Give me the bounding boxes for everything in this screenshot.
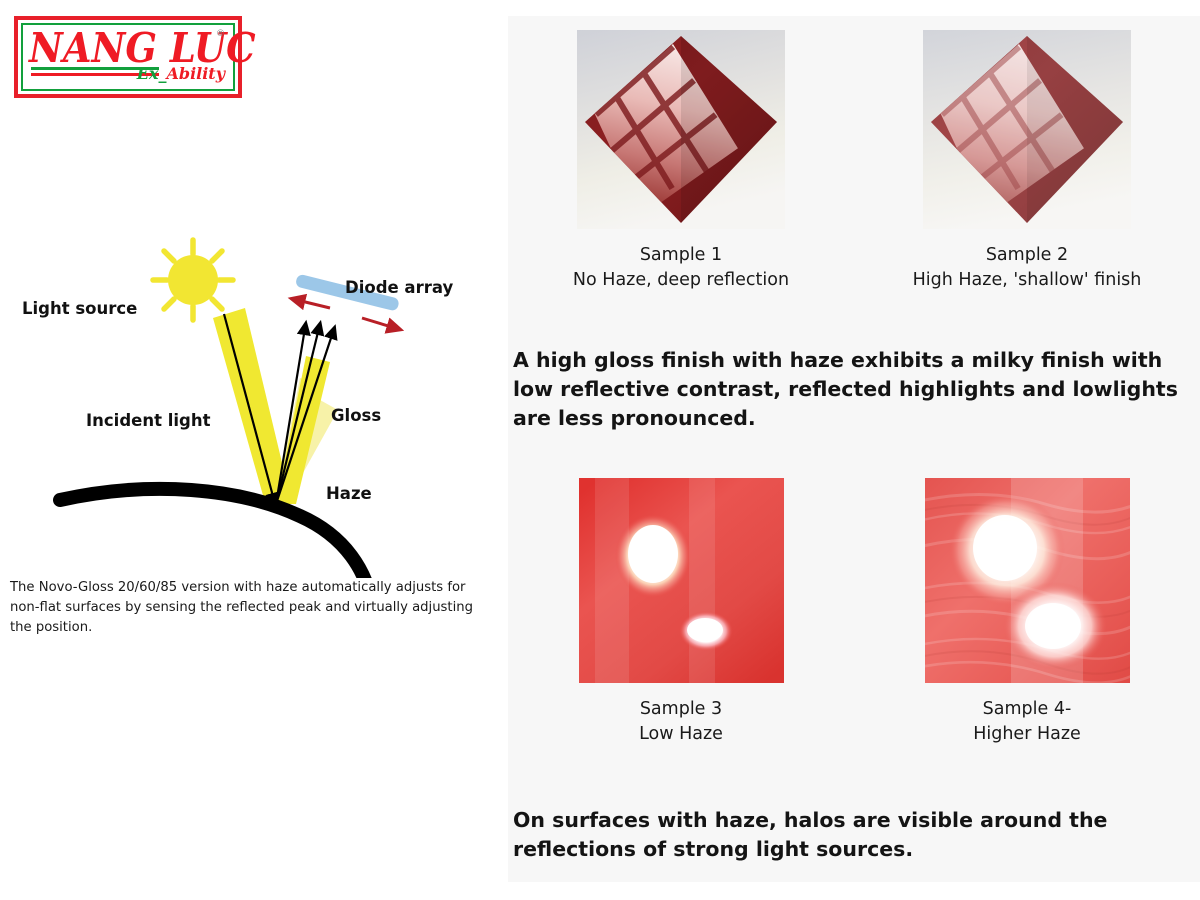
sample-2-subtitle: High Haze, 'shallow' finish: [913, 268, 1142, 293]
sample-2-caption: Sample 2 High Haze, 'shallow' finish: [913, 243, 1142, 293]
sample-3-image: [579, 478, 784, 683]
haze-samples-panel: Sample 1 No Haze, deep reflection: [508, 16, 1200, 882]
sample-row-top: Sample 1 No Haze, deep reflection: [508, 30, 1200, 293]
paragraph-haze-finish: A high gloss finish with haze exhibits a…: [513, 346, 1193, 433]
tagline-ability: Ability: [166, 64, 225, 83]
incident-light-beam: [213, 308, 290, 506]
sample-card-2: Sample 2 High Haze, 'shallow' finish: [854, 30, 1200, 293]
sample-card-1: Sample 1 No Haze, deep reflection: [508, 30, 854, 293]
diagram-caption: The Novo-Gloss 20/60/85 version with haz…: [10, 578, 498, 638]
label-diode-array: Diode array: [345, 278, 453, 297]
label-haze: Haze: [326, 484, 372, 503]
brand-logo: NANG LUC ® Ex_Ability: [14, 16, 242, 98]
label-incident-light: Incident light: [86, 411, 211, 430]
sample-4-caption: Sample 4- Higher Haze: [973, 697, 1081, 747]
sample-2-image: [923, 30, 1131, 229]
sample-3-title: Sample 3: [639, 697, 723, 722]
sample-card-4: Sample 4- Higher Haze: [854, 478, 1200, 747]
left-column: NANG LUC ® Ex_Ability: [0, 0, 505, 900]
paragraph-halos: On surfaces with haze, halos are visible…: [513, 806, 1193, 864]
sample-4-title: Sample 4-: [973, 697, 1081, 722]
label-light-source: Light source: [22, 299, 137, 318]
brand-tagline: Ex_Ability: [137, 64, 225, 83]
sun-icon: [153, 240, 233, 320]
sample-row-bottom: Sample 3 Low Haze: [508, 478, 1200, 747]
tagline-ex: Ex: [137, 64, 159, 83]
sample-1-caption: Sample 1 No Haze, deep reflection: [573, 243, 789, 293]
brand-logo-frame: NANG LUC ® Ex_Ability: [21, 23, 235, 91]
sample-card-3: Sample 3 Low Haze: [508, 478, 854, 747]
sample-1-title: Sample 1: [573, 243, 789, 268]
registered-trademark-icon: ®: [216, 29, 225, 39]
sample-3-subtitle: Low Haze: [639, 722, 723, 747]
sample-2-title: Sample 2: [913, 243, 1142, 268]
label-gloss: Gloss: [331, 406, 381, 425]
haze-gloss-diagram: Light source Diode array Incident light …: [0, 228, 505, 578]
sample-4-image: [925, 478, 1130, 683]
sample-3-caption: Sample 3 Low Haze: [639, 697, 723, 747]
sample-1-subtitle: No Haze, deep reflection: [573, 268, 789, 293]
sample-4-subtitle: Higher Haze: [973, 722, 1081, 747]
sample-1-image: [577, 30, 785, 229]
